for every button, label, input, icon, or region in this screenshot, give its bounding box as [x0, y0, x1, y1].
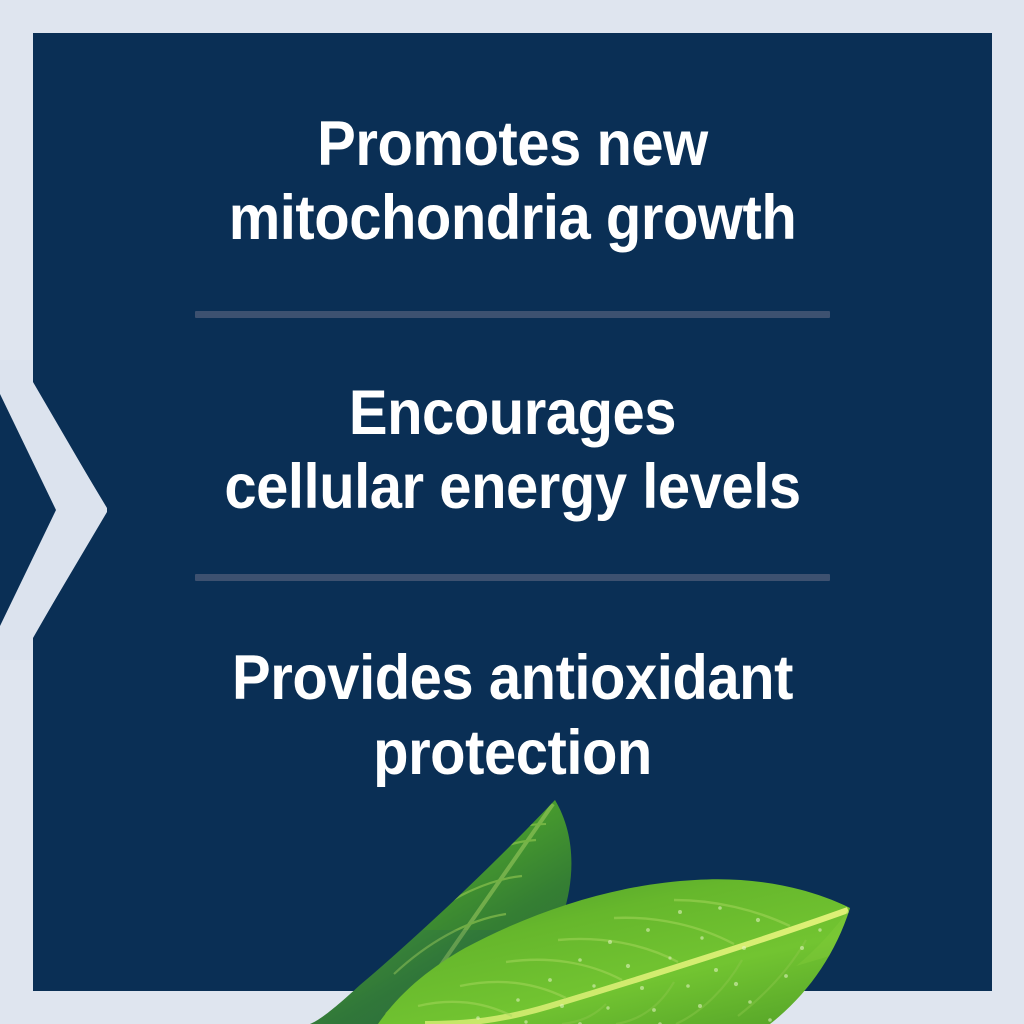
benefit-item-3: Provides antioxidant protection	[71, 641, 953, 790]
benefit-item-2: Encourages cellular energy levels	[71, 376, 953, 525]
benefit-item-1: Promotes new mitochondria growth	[71, 107, 953, 256]
benefit-card: Promotes new mitochondria growth Encoura…	[0, 0, 1024, 1024]
benefits-list: Promotes new mitochondria growth Encoura…	[33, 33, 992, 991]
divider-2	[195, 574, 830, 581]
divider-1	[195, 311, 830, 318]
